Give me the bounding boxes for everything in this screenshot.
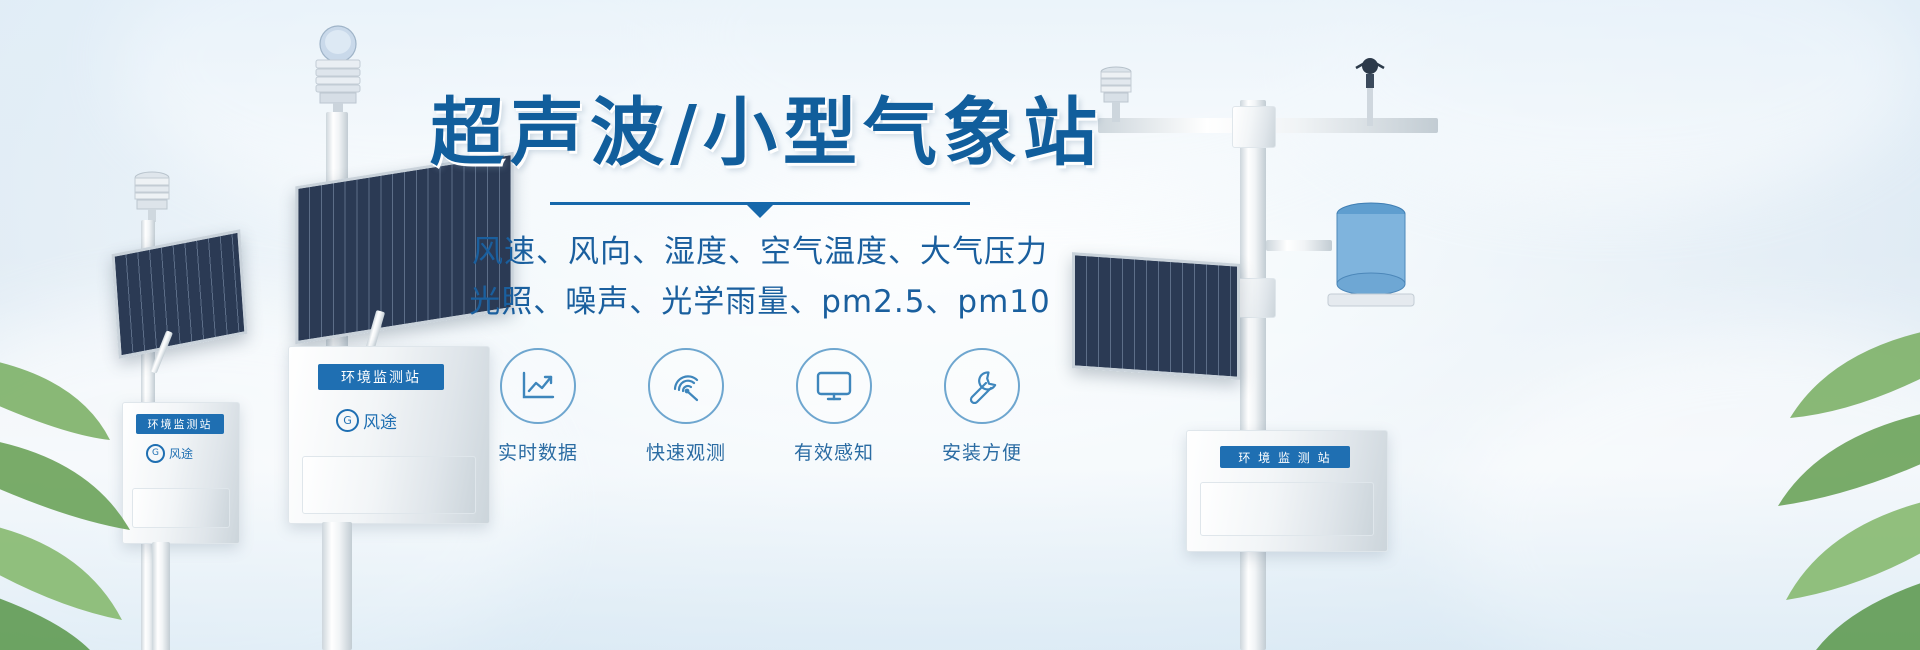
- feature-label: 实时数据: [487, 438, 589, 465]
- feature-circle: [796, 348, 872, 424]
- product-banner: 环境监测站 G 风途 环境监测站: [0, 0, 1920, 650]
- banner-subtitle-line-1: 风速、风向、湿度、空气温度、大气压力: [430, 228, 1090, 276]
- left-leaf-decoration: [0, 320, 180, 650]
- gauge-support-arm: [1266, 240, 1332, 251]
- feature-circle: [944, 348, 1020, 424]
- pole-collar-upper: [1232, 106, 1276, 148]
- feature-item-realtime-data[interactable]: 实时数据: [487, 348, 589, 465]
- line-chart-icon: [520, 370, 556, 402]
- banner-title: 超声波/小型气象站: [430, 96, 1090, 170]
- right-panel-face: [1200, 482, 1374, 536]
- feature-label: 安装方便: [931, 438, 1033, 465]
- right-mast-pole: [1240, 100, 1266, 650]
- ultrasonic-sensor-icon: [124, 170, 180, 227]
- feature-item-effective-sensing[interactable]: 有效感知: [783, 348, 885, 465]
- feature-label: 快速观测: [635, 438, 737, 465]
- mid-brand-text: 风途: [363, 408, 397, 433]
- right-solar-panel: [1072, 252, 1240, 380]
- feature-circle: [500, 348, 576, 424]
- wind-vane-sensor-icon: [1350, 56, 1390, 131]
- mid-brand-logo: G 风途: [336, 408, 397, 433]
- radar-wave-icon: [668, 369, 704, 403]
- right-weather-station: 环 境 监 测 站: [1050, 40, 1490, 650]
- divider-triangle-icon: [746, 204, 774, 218]
- feature-label: 有效感知: [783, 438, 885, 465]
- feature-circle: [648, 348, 724, 424]
- banner-copy-block: 超声波/小型气象站 风速、风向、湿度、空气温度、大气压力 光照、噪声、光学雨量、…: [430, 96, 1090, 326]
- banner-subtitle-line-2: 光照、噪声、光学雨量、pm2.5、pm10: [430, 278, 1090, 326]
- feature-list: 实时数据 快速观测 有效感知: [430, 348, 1090, 465]
- feature-item-fast-observation[interactable]: 快速观测: [635, 348, 737, 465]
- feature-item-easy-installation[interactable]: 安装方便: [931, 348, 1033, 465]
- brand-mark-icon: G: [336, 409, 359, 432]
- mid-base-pole: [322, 522, 352, 650]
- rain-gauge-icon: [1322, 198, 1420, 323]
- mid-station-tag: 环境监测站: [318, 364, 444, 390]
- wrench-icon: [964, 368, 1000, 404]
- right-station-tag: 环 境 监 测 站: [1220, 446, 1350, 468]
- monitor-screen-icon: [815, 370, 853, 402]
- right-leaf-decoration: [1720, 300, 1920, 650]
- title-divider: [550, 198, 970, 212]
- rain-dome-sensor-icon: [306, 22, 370, 123]
